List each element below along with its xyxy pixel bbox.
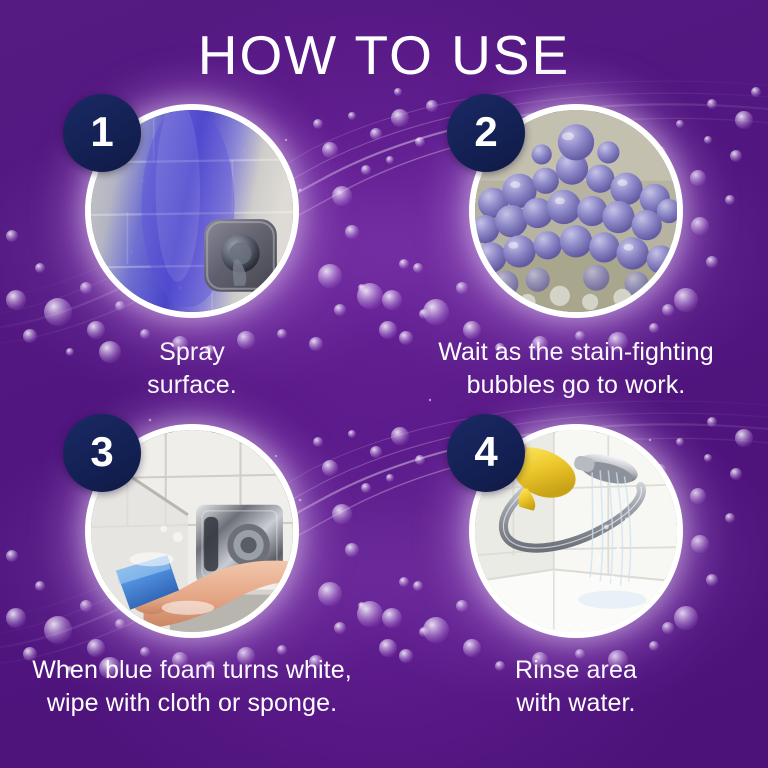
step-1-caption: Spray surface. [147,336,237,402]
step-1: 1 Spray surface. [0,104,384,402]
step-4: 4 Rinse area with water. [384,424,768,720]
step-number-4: 4 [474,431,497,473]
step-1-image-circle: 1 [85,104,299,318]
step-number-badge-4: 4 [447,414,525,492]
step-number-2: 2 [474,111,497,153]
step-number-badge-3: 3 [63,414,141,492]
step-2-image-circle: 2 [469,104,683,318]
step-3-caption: When blue foam turns white, wipe with cl… [32,654,352,720]
step-4-caption: Rinse area with water. [515,654,637,720]
step-2-caption: Wait as the stain-fighting bubbles go to… [438,336,713,402]
page-title: HOW TO USE [0,28,768,83]
step-3: 3 When blue foam turns white, wipe with … [0,424,384,720]
step-number-badge-1: 1 [63,94,141,172]
step-number-3: 3 [90,431,113,473]
step-number-1: 1 [90,111,113,153]
step-2: 2 Wait as the stain-fighting bubbles go … [384,104,768,402]
steps-grid: 1 Spray surface. [0,104,768,720]
step-4-image-circle: 4 [469,424,683,638]
step-3-image-circle: 3 [85,424,299,638]
step-number-badge-2: 2 [447,94,525,172]
how-to-use-poster: HOW TO USE [0,0,768,768]
